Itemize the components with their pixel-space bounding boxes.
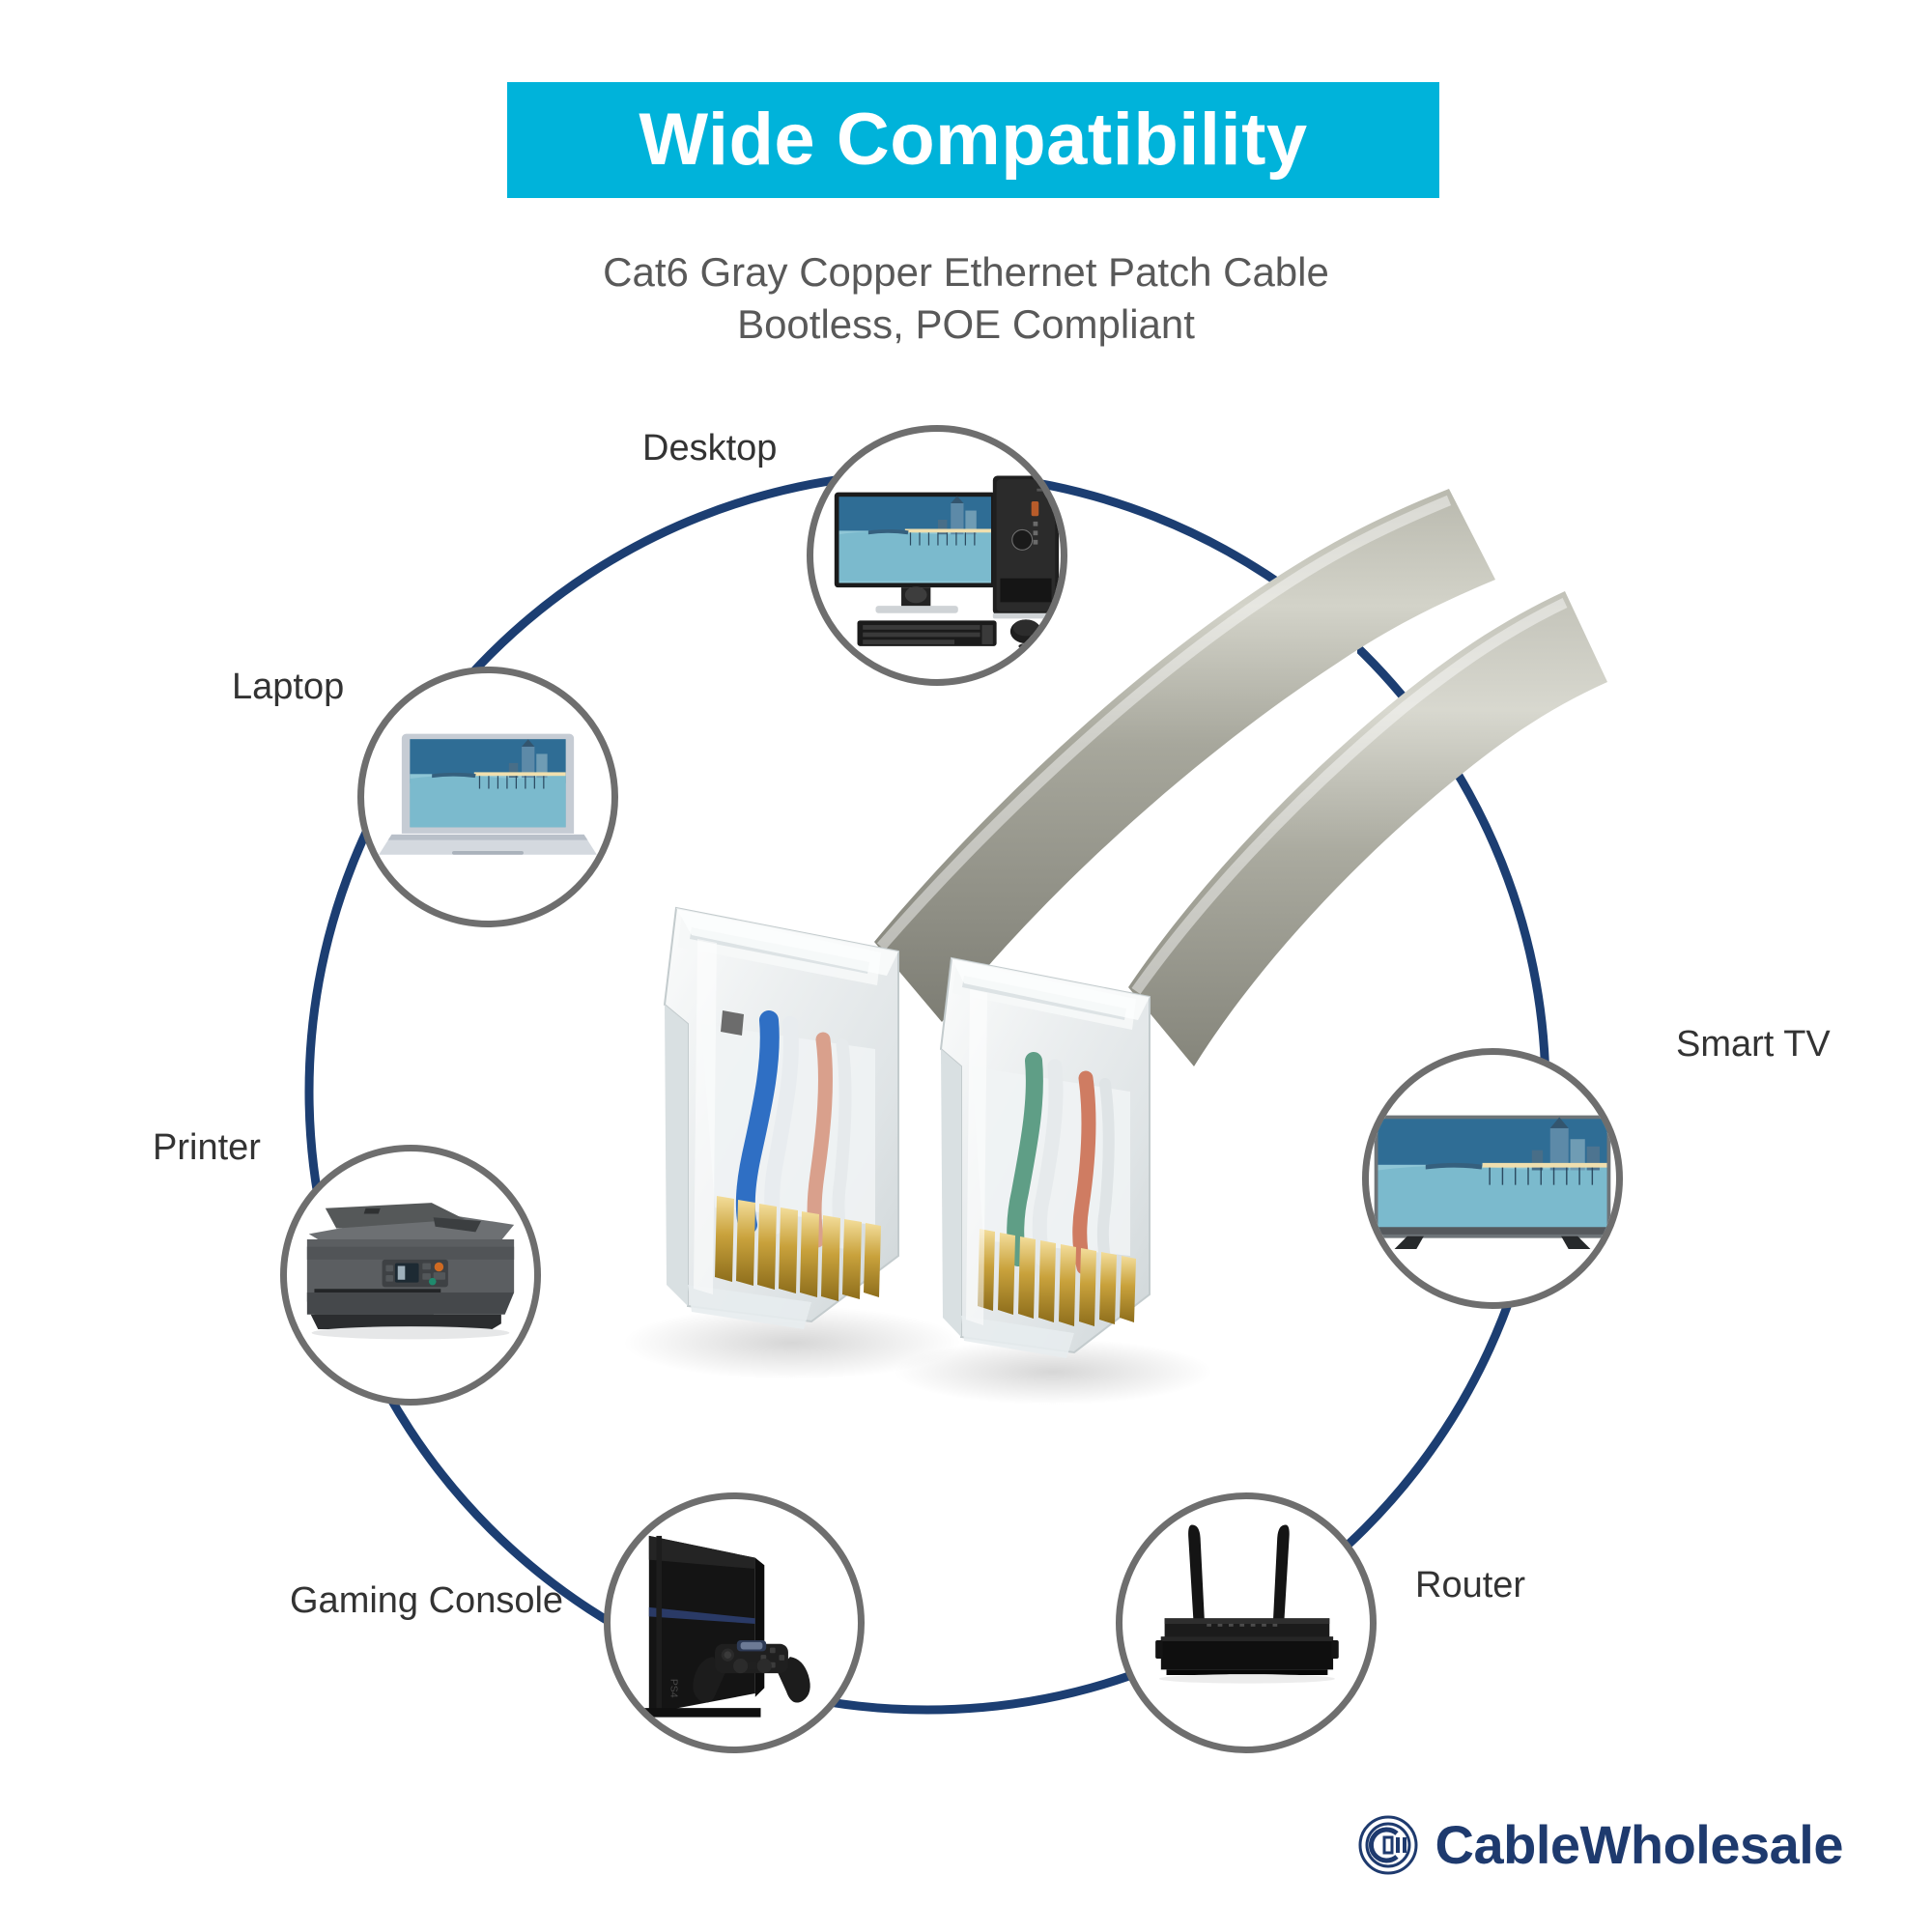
circular-c-icon (1358, 1815, 1418, 1875)
rj45-connector-right (941, 958, 1150, 1358)
brand-logo[interactable]: CableWholesale (1358, 1813, 1843, 1876)
compatibility-diagram: Desktop (0, 0, 1932, 1932)
brand-name: CableWholesale (1435, 1813, 1843, 1876)
ethernet-cable-with-rj45-connectors (0, 0, 1932, 1932)
rj45-connector-left (665, 908, 898, 1329)
